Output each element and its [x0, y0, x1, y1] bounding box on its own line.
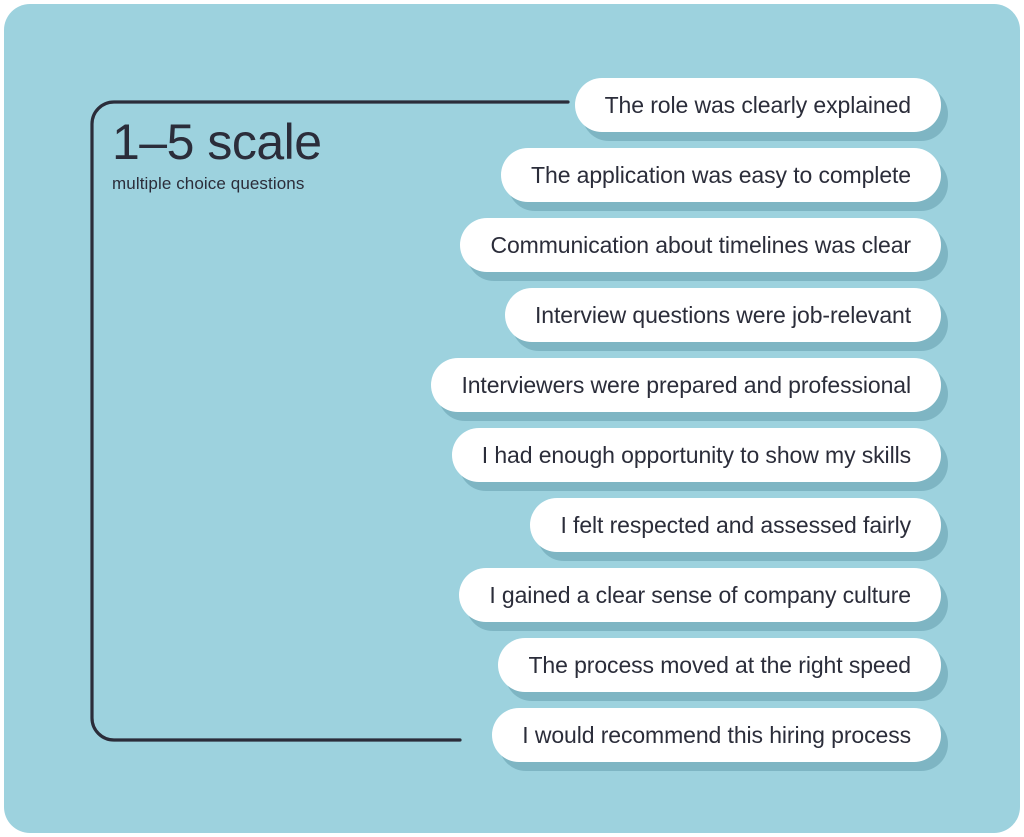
question-label: Communication about timelines was clear [490, 234, 911, 257]
question-label: The role was clearly explained [605, 94, 911, 117]
question-row: Communication about timelines was clear [4, 218, 1020, 272]
question-row: I felt respected and assessed fairly [4, 498, 1020, 552]
question-pill[interactable]: The role was clearly explained [575, 78, 941, 132]
question-label: The application was easy to complete [531, 164, 911, 187]
question-row: The role was clearly explained [4, 78, 1020, 132]
question-row: I would recommend this hiring process [4, 708, 1020, 762]
question-label: I gained a clear sense of company cultur… [489, 584, 911, 607]
question-row: I had enough opportunity to show my skil… [4, 428, 1020, 482]
question-pill[interactable]: I had enough opportunity to show my skil… [452, 428, 941, 482]
question-pill[interactable]: I would recommend this hiring process [492, 708, 941, 762]
question-row: The application was easy to complete [4, 148, 1020, 202]
question-pill[interactable]: I gained a clear sense of company cultur… [459, 568, 941, 622]
question-label: I would recommend this hiring process [522, 724, 911, 747]
question-label: Interview questions were job-relevant [535, 304, 911, 327]
question-row: Interview questions were job-relevant [4, 288, 1020, 342]
survey-panel: 1–5 scale multiple choice questions The … [4, 4, 1020, 833]
question-label: I had enough opportunity to show my skil… [482, 444, 911, 467]
question-row: Interviewers were prepared and professio… [4, 358, 1020, 412]
question-label: The process moved at the right speed [528, 654, 911, 677]
question-row: I gained a clear sense of company cultur… [4, 568, 1020, 622]
question-pill[interactable]: I felt respected and assessed fairly [530, 498, 941, 552]
question-label: I felt respected and assessed fairly [560, 514, 911, 537]
question-row: The process moved at the right speed [4, 638, 1020, 692]
question-pill[interactable]: The application was easy to complete [501, 148, 941, 202]
question-label: Interviewers were prepared and professio… [461, 374, 911, 397]
diagram-canvas: 1–5 scale multiple choice questions The … [0, 0, 1024, 837]
question-list: The role was clearly explained The appli… [4, 78, 1020, 762]
question-pill[interactable]: Interview questions were job-relevant [505, 288, 941, 342]
question-pill[interactable]: Interviewers were prepared and professio… [431, 358, 941, 412]
question-pill[interactable]: Communication about timelines was clear [460, 218, 941, 272]
question-pill[interactable]: The process moved at the right speed [498, 638, 941, 692]
